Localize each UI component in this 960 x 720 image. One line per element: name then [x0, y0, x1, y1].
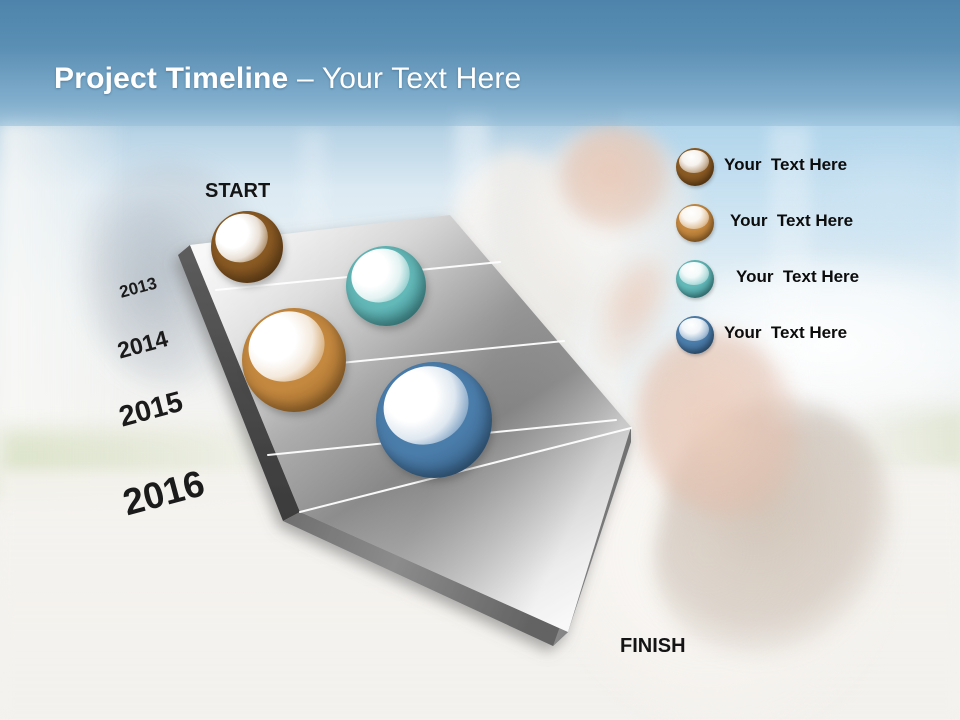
- legend-bullet-icon-1: [676, 148, 714, 186]
- legend-item-4[interactable]: Your Text Here: [676, 316, 946, 372]
- finish-label: FINISH: [620, 635, 686, 658]
- milestone-2014[interactable]: [346, 246, 426, 326]
- legend-item-label-3: Your Text Here: [736, 267, 859, 287]
- legend-item-label-1: Your Text Here: [724, 155, 847, 175]
- legend: Your Text HereYour Text HereYour Text He…: [676, 148, 946, 372]
- legend-item-label-4: Your Text Here: [724, 323, 847, 343]
- legend-item-3[interactable]: Your Text Here: [676, 260, 946, 316]
- milestone-2016[interactable]: [376, 362, 492, 478]
- legend-bullet-icon-4: [676, 316, 714, 354]
- milestone-2013[interactable]: [211, 211, 283, 283]
- legend-item-label-2: Your Text Here: [730, 211, 853, 231]
- legend-item-1[interactable]: Your Text Here: [676, 148, 946, 204]
- slide-canvas: Project Timeline – Your Text Here: [0, 0, 960, 720]
- milestone-2015[interactable]: [242, 308, 346, 412]
- legend-item-2[interactable]: Your Text Here: [676, 204, 946, 260]
- legend-bullet-icon-3: [676, 260, 714, 298]
- legend-bullet-icon-2: [676, 204, 714, 242]
- start-label: START: [205, 180, 270, 203]
